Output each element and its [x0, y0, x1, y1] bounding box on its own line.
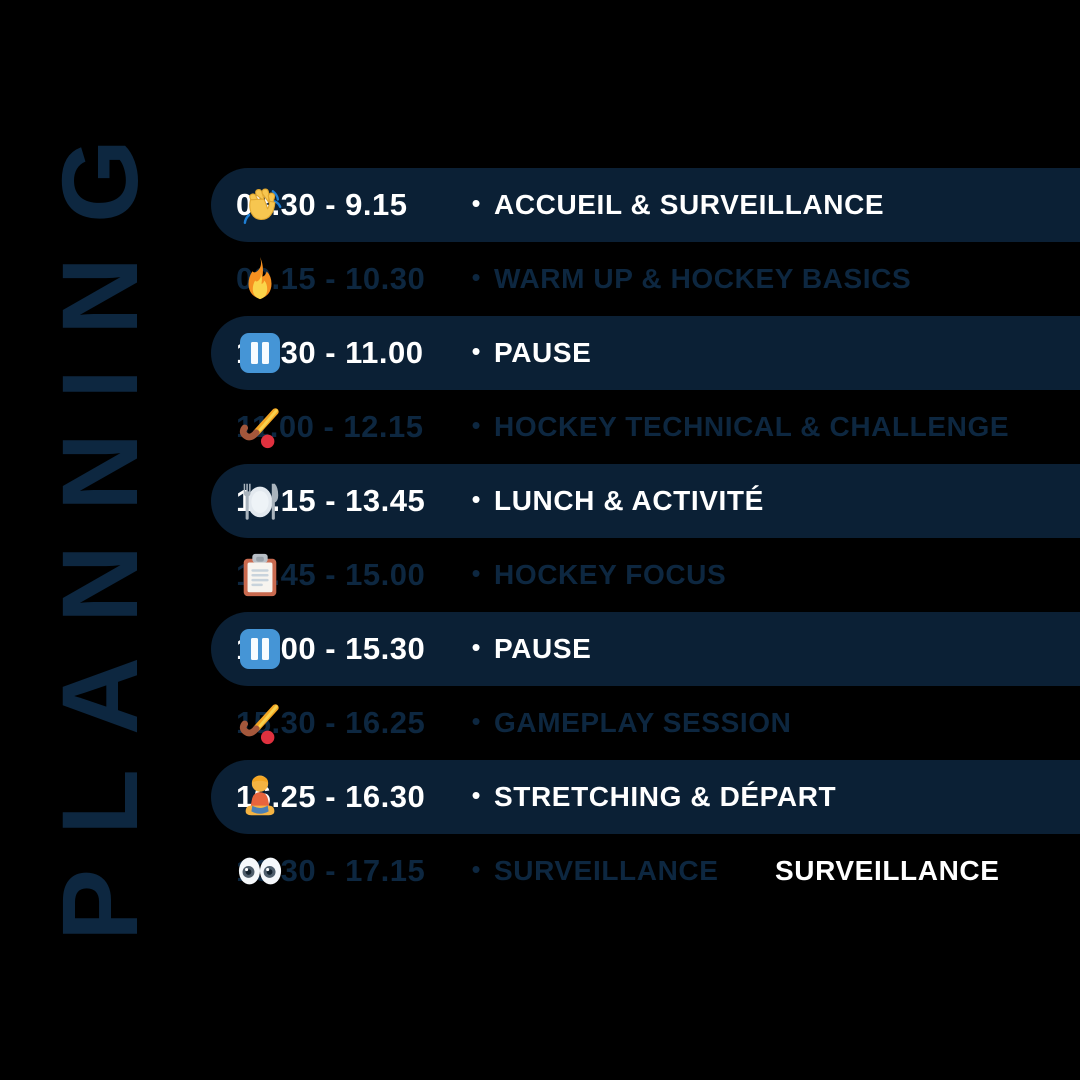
row-label-overlay: SURVEILLANCE — [775, 855, 1000, 887]
row-bullet-separator: • — [458, 338, 494, 364]
row-bullet-separator: • — [458, 634, 494, 660]
eyes-emoji — [236, 847, 284, 895]
schedule-row[interactable]: 12.15 - 13.45•LUNCH & ACTIVITÉ — [211, 464, 1080, 538]
row-bullet-separator: • — [458, 190, 494, 216]
row-bullet-separator: • — [458, 708, 494, 734]
row-label: HOCKEY TECHNICAL & CHALLENGE — [494, 411, 1009, 443]
row-label: SURVEILLANCE — [494, 855, 719, 887]
field-hockey-emoji — [236, 403, 284, 451]
row-bullet-separator: • — [458, 486, 494, 512]
row-label: LUNCH & ACTIVITÉ — [494, 485, 764, 517]
schedule-row[interactable]: 15.30 - 16.25•GAMEPLAY SESSION — [0, 686, 1080, 760]
meditation-emoji — [236, 773, 284, 821]
row-label: GAMEPLAY SESSION — [494, 707, 791, 739]
schedule-row[interactable]: 13.45 - 15.00• HOCKEY FOCUS — [0, 538, 1080, 612]
fork-knife-plate-emoji — [236, 477, 284, 525]
row-bullet-separator: • — [458, 560, 494, 586]
schedule-row[interactable]: 11.00 - 12.15•HOCKEY TECHNICAL & CHALLEN… — [0, 390, 1080, 464]
schedule-row[interactable]: 15.00 - 15.30•PAUSE — [211, 612, 1080, 686]
row-bullet-separator: • — [458, 264, 494, 290]
waving-hand-emoji — [236, 181, 284, 229]
row-label: HOCKEY FOCUS — [494, 559, 726, 591]
planning-poster: PLANNING 08.30 - 9.15•ACCUEIL & SURVEILL… — [0, 0, 1080, 1080]
schedule-row[interactable]: 10.30 - 11.00•PAUSE — [211, 316, 1080, 390]
schedule-row[interactable]: 09.15 - 10.30•WARM UP & HOCKEY BASICS — [0, 242, 1080, 316]
row-label: ACCUEIL & SURVEILLANCE — [494, 189, 884, 221]
field-hockey-emoji — [236, 699, 284, 747]
row-bullet-separator: • — [458, 412, 494, 438]
fire-emoji — [236, 255, 284, 303]
schedule-list: 08.30 - 9.15•ACCUEIL & SURVEILLANCE 09.1… — [0, 168, 1080, 908]
pause-button-emoji — [236, 329, 284, 377]
row-label: WARM UP & HOCKEY BASICS — [494, 263, 911, 295]
row-label: PAUSE — [494, 337, 591, 369]
clipboard-emoji — [236, 551, 284, 599]
row-bullet-separator: • — [458, 782, 494, 808]
schedule-row[interactable]: 16.30 - 17.15•SURVEILLANCESURVEILLANCE — [0, 834, 1080, 908]
pause-button-emoji — [236, 625, 284, 673]
row-label: STRETCHING & DÉPART — [494, 781, 836, 813]
row-label: PAUSE — [494, 633, 591, 665]
row-bullet-separator: • — [458, 856, 494, 882]
schedule-row[interactable]: 08.30 - 9.15•ACCUEIL & SURVEILLANCE — [211, 168, 1080, 242]
schedule-row[interactable]: 16.25 - 16.30•STRETCHING & DÉPART — [211, 760, 1080, 834]
